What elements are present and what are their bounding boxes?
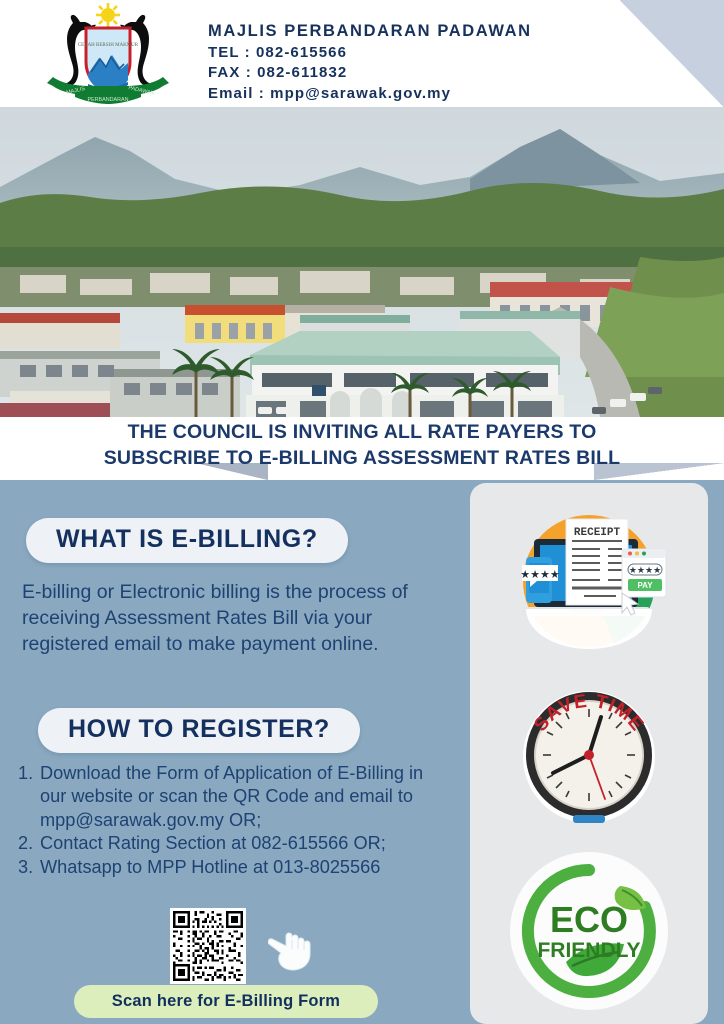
eco-text-line-1: ECO bbox=[550, 899, 628, 940]
pointing-hand-cursor-icon bbox=[268, 928, 316, 980]
fax-line: FAX : 082-611832 bbox=[208, 63, 532, 84]
what-is-ebilling-body: E-billing or Electronic billing is the p… bbox=[22, 580, 442, 658]
scan-here-button[interactable]: Scan here for E-Billing Form bbox=[74, 985, 378, 1018]
email-line: Email : mpp@sarawak.gov.my bbox=[208, 84, 532, 105]
poster-root: CERAH BERSIH MAKMUR MAJLIS PERBANDARAN P… bbox=[0, 0, 724, 1024]
svg-text:RECEIPT: RECEIPT bbox=[574, 527, 621, 539]
page-header: CERAH BERSIH MAKMUR MAJLIS PERBANDARAN P… bbox=[0, 0, 724, 107]
svg-text:★★★★: ★★★★ bbox=[520, 569, 560, 581]
svg-text:★★★★: ★★★★ bbox=[629, 565, 661, 575]
svg-text:PERBANDARAN: PERBANDARAN bbox=[87, 97, 128, 103]
svg-text:PAY: PAY bbox=[637, 581, 653, 590]
aerial-photo-padawan-council-building bbox=[0, 107, 724, 417]
headline-line-1: THE COUNCIL IS INVITING ALL RATE PAYERS … bbox=[24, 420, 700, 446]
what-is-ebilling-heading: WHAT IS E-BILLING? bbox=[26, 518, 348, 563]
save-time-clock-icon: SAVE TIME bbox=[470, 669, 708, 841]
qr-code-ebilling-form[interactable] bbox=[170, 908, 246, 984]
organisation-name: MAJLIS PERBANDARAN PADAWAN bbox=[208, 20, 532, 43]
register-step: Whatsapp to MPP Hotline at 013-8025566 bbox=[18, 856, 448, 879]
mpp-coat-of-arms-logo: CERAH BERSIH MAKMUR MAJLIS PERBANDARAN P… bbox=[33, 2, 183, 105]
header-contact-block: MAJLIS PERBANDARAN PADAWAN TEL : 082-615… bbox=[208, 20, 532, 105]
benefits-icon-panel: RECEIPT ★★★★ bbox=[470, 483, 708, 1024]
online-payment-receipt-illustration: RECEIPT ★★★★ bbox=[470, 497, 708, 665]
headline-line-2: SUBSCRIBE TO E-BILLING ASSESSMENT RATES … bbox=[24, 446, 700, 472]
eco-friendly-badge-icon: ECO FRIENDLY bbox=[470, 845, 708, 1017]
eco-badge-circle: ECO FRIENDLY bbox=[510, 852, 668, 1010]
how-to-register-heading-wrap: HOW TO REGISTER? bbox=[38, 708, 360, 753]
register-step: Contact Rating Section at 082-615566 OR; bbox=[18, 832, 448, 855]
eco-text-line-2: FRIENDLY bbox=[537, 939, 640, 962]
how-to-register-heading: HOW TO REGISTER? bbox=[38, 708, 360, 753]
how-to-register-steps: Download the Form of Application of E-Bi… bbox=[18, 762, 448, 879]
telephone-line: TEL : 082-615566 bbox=[208, 43, 532, 64]
headline-text: THE COUNCIL IS INVITING ALL RATE PAYERS … bbox=[0, 420, 724, 471]
what-is-ebilling-heading-wrap: WHAT IS E-BILLING? bbox=[26, 518, 348, 563]
svg-text:CERAH BERSIH MAKMUR: CERAH BERSIH MAKMUR bbox=[78, 43, 139, 48]
header-corner-decoration bbox=[620, 0, 724, 107]
register-step: Download the Form of Application of E-Bi… bbox=[18, 762, 448, 832]
